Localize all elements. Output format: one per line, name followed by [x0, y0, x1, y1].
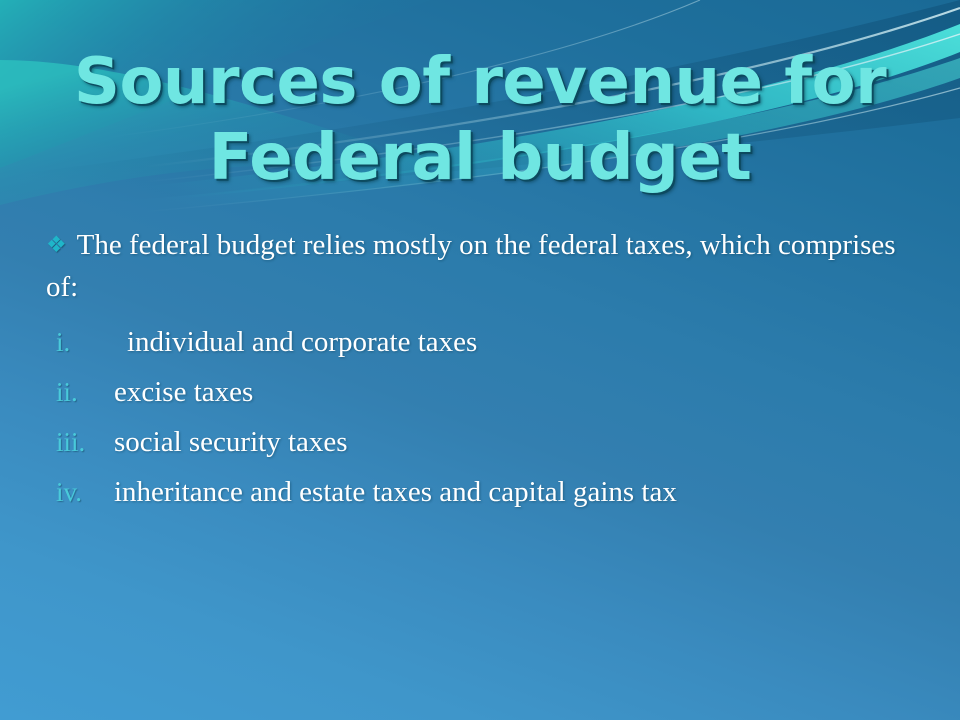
list-item-marker: iv. — [56, 467, 114, 517]
slide-title: Sources of revenue for Federal budget — [0, 44, 960, 196]
list-item-marker: ii. — [56, 367, 114, 417]
diamond-cluster-bullet-icon: ❖ — [46, 232, 67, 257]
list-item-label: inheritance and estate taxes and capital… — [114, 467, 960, 517]
list-item: iv. inheritance and estate taxes and cap… — [0, 467, 960, 517]
slide-body: ❖The federal budget relies mostly on the… — [0, 224, 960, 517]
list-item-marker: iii. — [56, 417, 114, 467]
intro-paragraph: ❖The federal budget relies mostly on the… — [0, 224, 960, 308]
numbered-list: i. individual and corporate taxes ii. ex… — [0, 317, 960, 517]
slide-title-line-1: Sources of revenue for — [0, 44, 960, 120]
list-item-label: excise taxes — [114, 367, 960, 417]
list-item-label: individual and corporate taxes — [114, 317, 960, 367]
list-item-marker: i. — [56, 317, 114, 367]
list-item: iii. social security taxes — [0, 417, 960, 467]
presentation-slide: Sources of revenue for Federal budget ❖T… — [0, 0, 960, 720]
intro-text: The federal budget relies mostly on the … — [46, 229, 896, 303]
list-item-label: social security taxes — [114, 417, 960, 467]
list-item: i. individual and corporate taxes — [0, 317, 960, 367]
list-item: ii. excise taxes — [0, 367, 960, 417]
slide-title-line-2: Federal budget — [0, 120, 960, 196]
